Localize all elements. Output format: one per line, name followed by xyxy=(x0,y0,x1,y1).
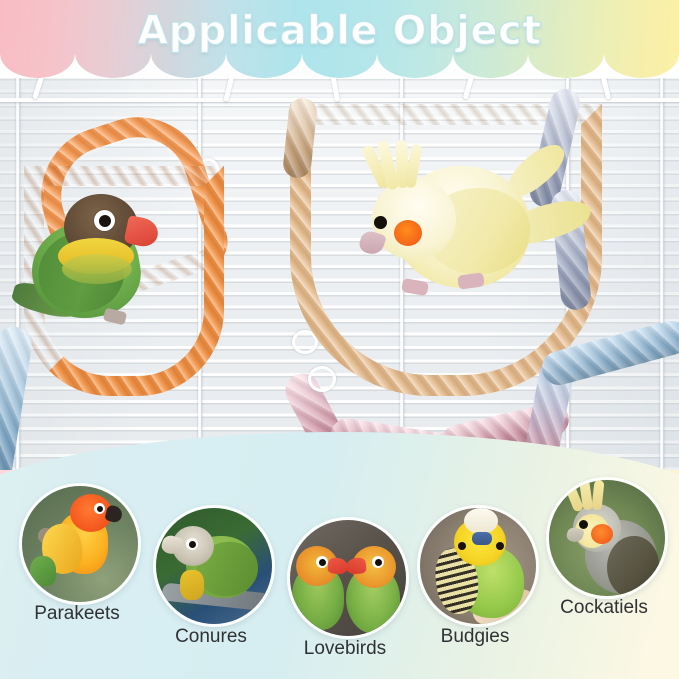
hero-photo xyxy=(0,40,679,470)
scallop-notch xyxy=(604,54,679,78)
chip-conures[interactable] xyxy=(153,505,275,627)
parakeet-photo xyxy=(22,486,138,602)
lovebird-collar-blend xyxy=(62,254,132,284)
lovebird-pupil xyxy=(99,215,111,227)
lovebird-foot xyxy=(103,308,127,326)
cockatiel-foot xyxy=(457,272,485,289)
scallop-notch xyxy=(377,54,452,78)
cage-post xyxy=(660,40,664,470)
scallop-notch xyxy=(302,54,377,78)
product-infographic: Applicable Object Parakeets Conures xyxy=(0,0,679,679)
chip-label-lovebirds: Lovebirds xyxy=(270,638,420,660)
scallop-notch xyxy=(75,54,150,78)
chip-label-cockatiels: Cockatiels xyxy=(529,597,679,619)
lovebird-pair-photo xyxy=(290,520,406,636)
chip-parakeets[interactable] xyxy=(19,483,141,605)
conure-photo xyxy=(156,508,272,624)
banner-title: Applicable Object xyxy=(0,8,679,54)
chip-cockatiels[interactable] xyxy=(546,477,668,599)
chip-lovebirds[interactable] xyxy=(287,517,409,639)
chip-budgies[interactable] xyxy=(417,505,539,627)
chip-label-budgies: Budgies xyxy=(400,626,550,648)
scallop-notch xyxy=(151,54,226,78)
lovebird-on-orange-perch xyxy=(18,170,178,350)
scallop-notch xyxy=(453,54,528,78)
cockatiel-cheek-patch xyxy=(394,220,422,246)
cockatiel-eye xyxy=(374,216,387,229)
banner-scalloped-edge xyxy=(0,54,679,78)
scallop-notch xyxy=(226,54,301,78)
chip-label-parakeets: Parakeets xyxy=(2,603,152,625)
scallop-notch xyxy=(528,54,603,78)
chip-label-conures: Conures xyxy=(136,626,286,648)
banner: Applicable Object xyxy=(0,0,679,78)
budgie-photo xyxy=(420,508,536,624)
pink-rope-hook xyxy=(308,366,336,392)
cockatiel-foot xyxy=(401,278,429,296)
cockatiel-photo xyxy=(549,480,665,596)
scallop-notch xyxy=(0,54,75,78)
cockatiel-on-beige-perch xyxy=(350,138,580,308)
